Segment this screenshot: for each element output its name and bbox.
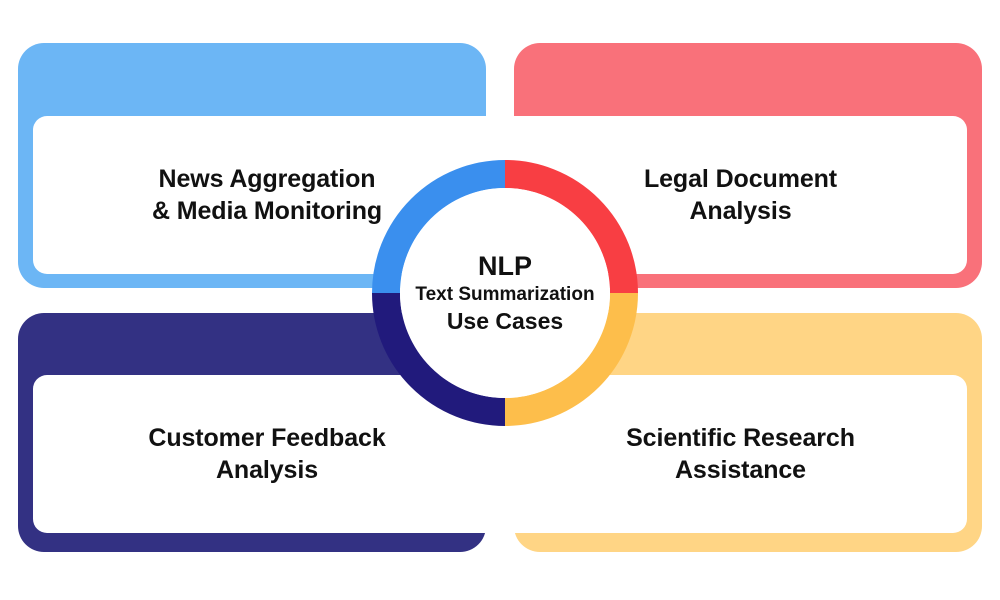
quadrant-label-scientific-research-assistance: Scientific Research Assistance xyxy=(626,422,855,486)
center-hub: NLP Text Summarization Use Cases xyxy=(400,188,610,398)
hub-subtitle-text-summarization: Text Summarization xyxy=(415,284,594,306)
hub-title-nlp: NLP xyxy=(478,251,532,282)
hub-subtitle-use-cases: Use Cases xyxy=(447,308,563,335)
diagram-canvas: News Aggregation & Media Monitoring Lega… xyxy=(0,0,1000,600)
quadrant-label-customer-feedback-analysis: Customer Feedback Analysis xyxy=(148,422,385,486)
quadrant-label-legal-document-analysis: Legal Document Analysis xyxy=(644,163,837,227)
quadrant-label-news-aggregation: News Aggregation & Media Monitoring xyxy=(152,163,382,227)
